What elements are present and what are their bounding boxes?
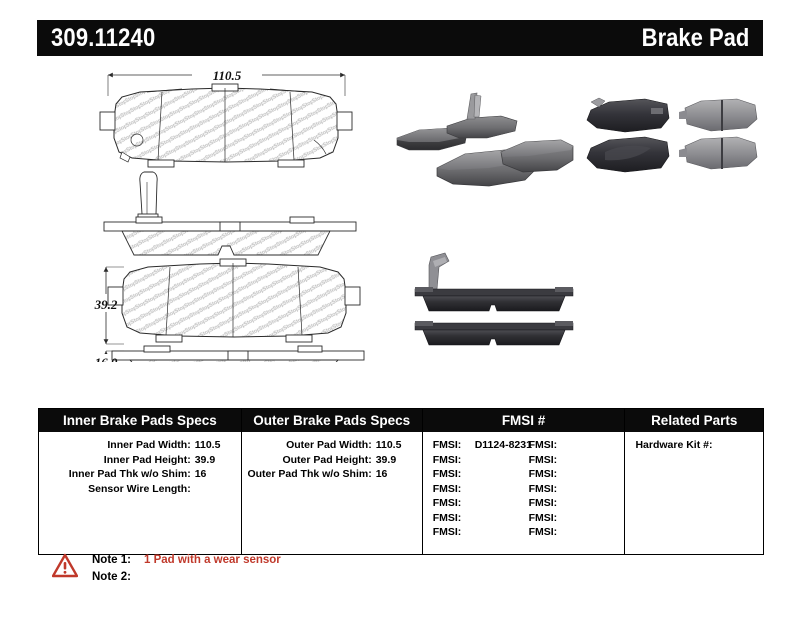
spec-row: Inner Pad Thk w/o Shim: 16	[39, 467, 241, 482]
fmsi-label: FMSI:	[433, 525, 471, 540]
spec-row: Inner Pad Width: 110.5	[39, 438, 241, 453]
fmsi-label: FMSI:	[529, 525, 567, 540]
specs-table: Inner Brake Pads Specs Inner Pad Width: …	[38, 408, 764, 555]
spec-row: Outer Pad Width: 110.5	[242, 438, 422, 453]
note-text: 1 Pad with a wear sensor	[140, 552, 281, 569]
spec-label: Outer Pad Thk w/o Shim:	[242, 467, 376, 482]
fmsi-label: FMSI:	[529, 496, 567, 511]
spec-label: Inner Pad Width:	[39, 438, 195, 453]
technical-drawings-group: StopTech	[92, 62, 392, 362]
fmsi-value: D1124-8231	[471, 438, 532, 453]
fmsi-row: FMSI:	[529, 438, 625, 453]
fmsi-row: FMSI:	[529, 525, 625, 540]
notes-area: Note 1: 1 Pad with a wear sensor Note 2:	[52, 552, 281, 586]
note-label: Note 1:	[92, 552, 140, 569]
fmsi-label: FMSI:	[433, 467, 471, 482]
fmsi-value	[567, 482, 625, 497]
notes-list: Note 1: 1 Pad with a wear sensor Note 2:	[92, 552, 281, 586]
fmsi-label: FMSI:	[433, 482, 471, 497]
fmsi-header: FMSI #	[423, 409, 625, 432]
fmsi-row: FMSI:	[433, 511, 529, 526]
related-parts-header: Related Parts	[625, 409, 763, 432]
fmsi-label: FMSI:	[433, 453, 471, 468]
spec-label: Outer Pad Width:	[242, 438, 376, 453]
note-label: Note 2:	[92, 569, 140, 586]
warning-triangle-icon	[52, 553, 78, 579]
fmsi-value	[471, 453, 529, 468]
dimension-width-label: 110.5	[213, 68, 242, 83]
fmsi-value	[471, 511, 529, 526]
fmsi-subcolumn-left: FMSI: D1124-8231 FMSI: FMSI: FMSI:	[433, 438, 529, 540]
fmsi-value	[471, 482, 529, 497]
fmsi-column: FMSI # FMSI: D1124-8231 FMSI: FMSI:	[423, 409, 626, 554]
fmsi-value	[471, 467, 529, 482]
fmsi-value	[567, 438, 625, 453]
fmsi-subcolumn-right: FMSI: FMSI: FMSI: FMSI:	[529, 438, 625, 540]
inner-specs-body: Inner Pad Width: 110.5 Inner Pad Height:…	[39, 432, 241, 554]
fmsi-value	[471, 496, 529, 511]
fmsi-row: FMSI:	[529, 496, 625, 511]
note-row: Note 2:	[92, 569, 281, 586]
fmsi-label: FMSI:	[529, 453, 567, 468]
dimension-height-label: 39.2	[94, 297, 118, 312]
dimension-thickness-label: 16.0	[95, 355, 118, 362]
fmsi-row: FMSI:	[433, 482, 529, 497]
spec-value: 110.5	[195, 438, 241, 453]
datasheet-page: 309.11240 Brake Pad StopTech	[0, 0, 800, 619]
fmsi-row: FMSI:	[433, 467, 529, 482]
product-type-title: Brake Pad	[641, 24, 749, 53]
inner-specs-column: Inner Brake Pads Specs Inner Pad Width: …	[39, 409, 242, 554]
outer-specs-column: Outer Brake Pads Specs Outer Pad Width: …	[242, 409, 423, 554]
fmsi-body: FMSI: D1124-8231 FMSI: FMSI: FMSI:	[423, 432, 625, 554]
part-number: 309.11240	[51, 24, 155, 53]
fmsi-label: FMSI:	[529, 438, 567, 453]
spec-value: 110.5	[376, 438, 422, 453]
spec-row: Inner Pad Height: 39.9	[39, 453, 241, 468]
fmsi-label: FMSI:	[529, 511, 567, 526]
fmsi-label: FMSI:	[529, 482, 567, 497]
spec-value: 39.9	[376, 453, 422, 468]
spec-value: 39.9	[195, 453, 241, 468]
header-bar: 309.11240 Brake Pad	[37, 20, 763, 56]
fmsi-row: FMSI:	[529, 482, 625, 497]
fmsi-value	[567, 496, 625, 511]
fmsi-value	[567, 525, 625, 540]
fmsi-row: FMSI:	[529, 453, 625, 468]
fmsi-row: FMSI:	[529, 467, 625, 482]
spec-value: 16	[195, 467, 241, 482]
note-row: Note 1: 1 Pad with a wear sensor	[92, 552, 281, 569]
brake-pad-edge-profile-photo	[405, 247, 585, 357]
spec-row: Outer Pad Thk w/o Shim: 16	[242, 467, 422, 482]
fmsi-row: FMSI:	[529, 511, 625, 526]
related-part-row: Hardware Kit #:	[625, 438, 763, 453]
fmsi-value	[567, 467, 625, 482]
spec-row: Outer Pad Height: 39.9	[242, 453, 422, 468]
fmsi-row: FMSI:	[433, 496, 529, 511]
related-parts-column: Related Parts Hardware Kit #:	[625, 409, 763, 554]
spec-label: Inner Pad Thk w/o Shim:	[39, 467, 195, 482]
fmsi-label: FMSI:	[433, 511, 471, 526]
fmsi-row: FMSI:	[433, 453, 529, 468]
fmsi-row: FMSI: D1124-8231	[433, 438, 529, 453]
outer-specs-header: Outer Brake Pads Specs	[242, 409, 422, 432]
drawing-area: StopTech	[37, 62, 763, 392]
spec-value	[195, 482, 241, 497]
fmsi-value	[471, 525, 529, 540]
spec-label: Outer Pad Height:	[242, 453, 376, 468]
spec-value: 16	[376, 467, 422, 482]
fmsi-label: FMSI:	[529, 467, 567, 482]
spec-label: Inner Pad Height:	[39, 453, 195, 468]
related-parts-body: Hardware Kit #:	[625, 432, 763, 554]
fmsi-value	[567, 511, 625, 526]
inner-specs-header: Inner Brake Pads Specs	[39, 409, 241, 432]
spec-row: Sensor Wire Length:	[39, 482, 241, 497]
fmsi-row: FMSI:	[433, 525, 529, 540]
note-text	[140, 569, 144, 586]
outer-specs-body: Outer Pad Width: 110.5 Outer Pad Height:…	[242, 432, 422, 554]
fmsi-label: FMSI:	[433, 438, 471, 453]
spec-label: Sensor Wire Length:	[39, 482, 195, 497]
brake-pad-set-angled-photo	[389, 90, 579, 190]
fmsi-value	[567, 453, 625, 468]
fmsi-label: FMSI:	[433, 496, 471, 511]
brake-pad-set-front-back-photo	[575, 92, 765, 188]
